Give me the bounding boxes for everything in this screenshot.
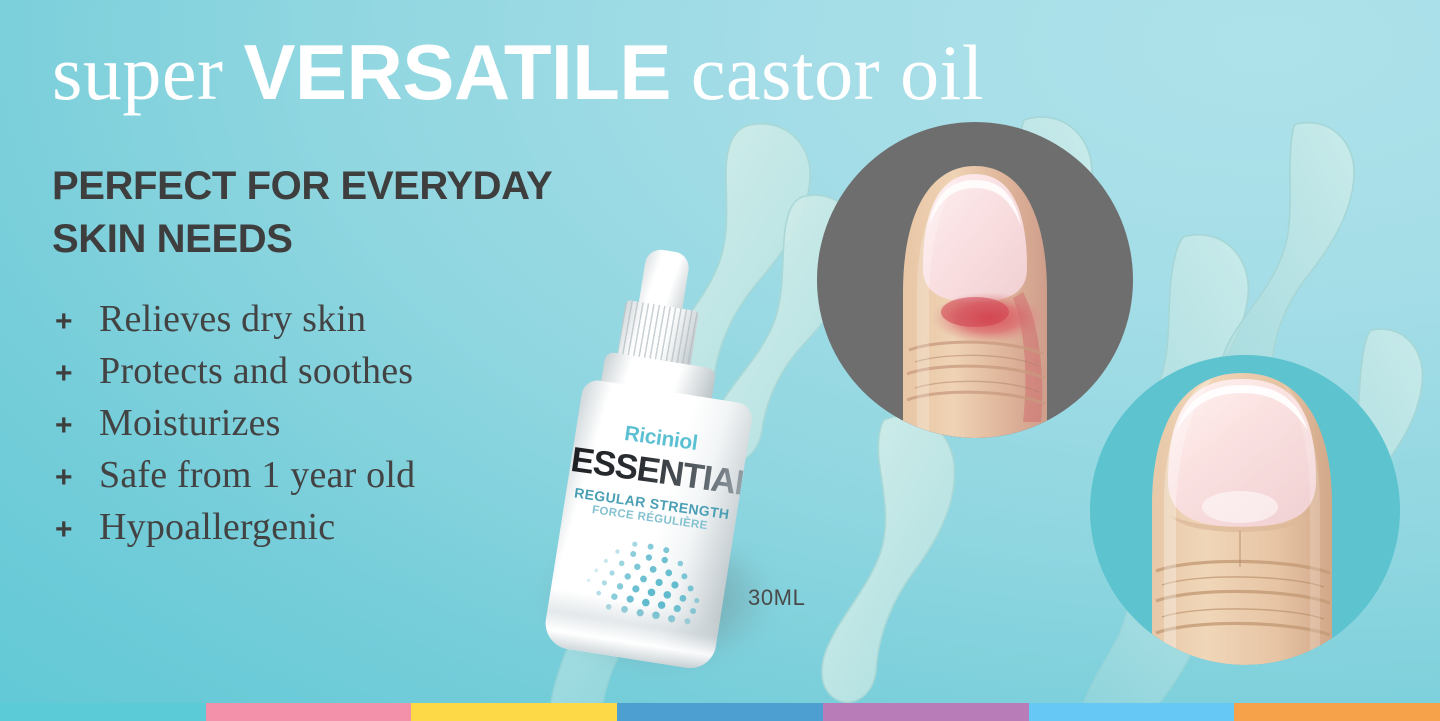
page-title: super VERSATILE castor oil <box>52 33 1432 112</box>
color-segment-pink <box>206 703 412 721</box>
color-segment-teal <box>0 703 206 721</box>
before-photo-circle <box>817 122 1133 438</box>
color-segment-light-blue <box>1029 703 1235 721</box>
benefit-label: Moisturizes <box>99 404 281 442</box>
benefit-label: Relieves dry skin <box>99 300 366 338</box>
plus-icon: + <box>55 463 99 493</box>
list-item: + Relieves dry skin <box>55 300 415 352</box>
color-segment-yellow <box>411 703 617 721</box>
headline-part-versatile: VERSATILE <box>243 28 670 116</box>
plus-icon: + <box>55 307 99 337</box>
list-item: + Safe from 1 year old <box>55 456 415 508</box>
after-photo-circle <box>1090 355 1400 665</box>
benefit-label: Hypoallergenic <box>99 508 335 546</box>
benefit-label: Protects and soothes <box>99 352 413 390</box>
benefit-label: Safe from 1 year old <box>99 456 415 494</box>
list-item: + Hypoallergenic <box>55 508 415 560</box>
bottle-label: Riciniol ESSENTIAL REGULAR STRENGTH FORC… <box>564 415 748 536</box>
subheading-line-2: SKIN NEEDS <box>52 213 552 266</box>
headline-part-castor-oil: castor oil <box>671 29 984 116</box>
product-bottle: Riciniol ESSENTIAL REGULAR STRENGTH FORC… <box>520 250 770 670</box>
promotional-banner: super VERSATILE castor oil PERFECT FOR E… <box>0 0 1440 721</box>
subheading: PERFECT FOR EVERYDAY SKIN NEEDS <box>52 160 552 266</box>
list-item: + Protects and soothes <box>55 352 415 404</box>
headline-part-super: super <box>52 29 243 116</box>
color-segment-blue <box>617 703 823 721</box>
subheading-line-1: PERFECT FOR EVERYDAY <box>52 160 552 213</box>
list-item: + Moisturizes <box>55 404 415 456</box>
color-segment-purple <box>823 703 1029 721</box>
irritated-finger-photo <box>817 122 1133 438</box>
volume-label: 30ML <box>748 585 805 611</box>
plus-icon: + <box>55 359 99 389</box>
plus-icon: + <box>55 515 99 545</box>
color-segment-orange <box>1234 703 1440 721</box>
plus-icon: + <box>55 411 99 441</box>
healthy-finger-photo <box>1090 355 1400 665</box>
bottom-color-strip <box>0 703 1440 721</box>
benefits-list: + Relieves dry skin + Protects and sooth… <box>55 300 415 560</box>
